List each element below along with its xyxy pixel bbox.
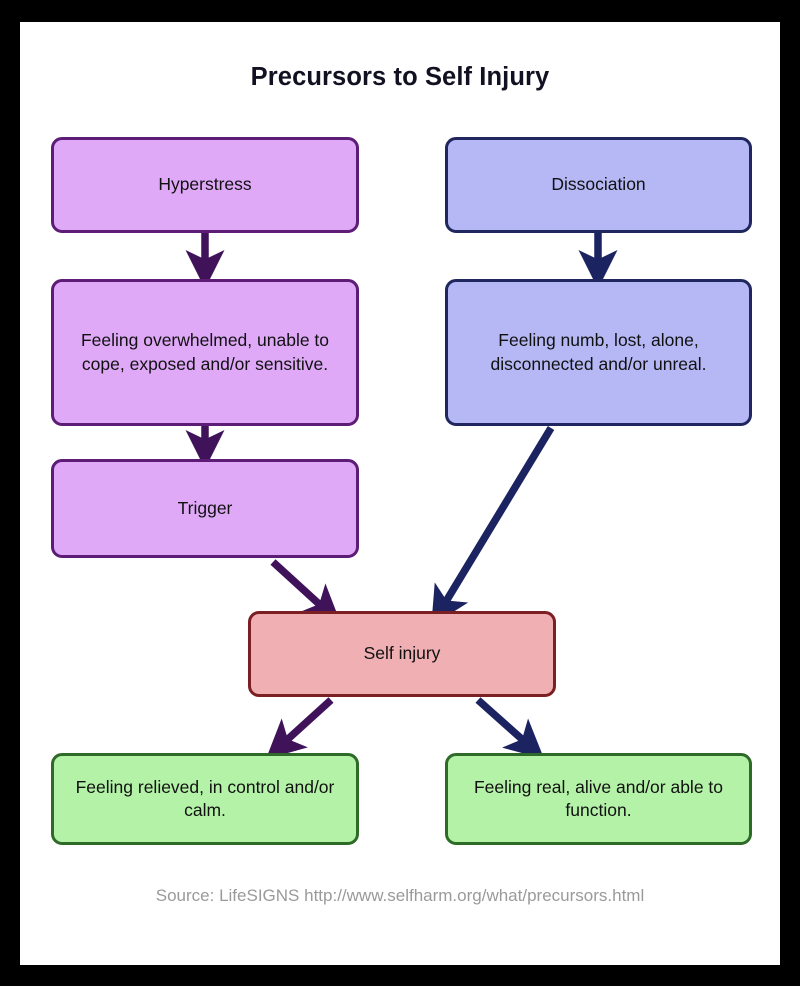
edge-numb-to-self-injury bbox=[439, 428, 551, 613]
node-feeling-relieved[interactable]: Feeling relieved, in control and/or calm… bbox=[51, 753, 359, 845]
node-self-injury[interactable]: Self injury bbox=[248, 611, 556, 697]
node-feeling-overwhelmed-label: Feeling overwhelmed, unable to cope, exp… bbox=[64, 329, 346, 375]
node-feeling-numb-label: Feeling numb, lost, alone, disconnected … bbox=[458, 329, 739, 375]
node-trigger-label: Trigger bbox=[64, 497, 346, 520]
edge-trigger-to-self-injury bbox=[273, 562, 330, 614]
node-dissociation[interactable]: Dissociation bbox=[445, 137, 752, 233]
edge-self-injury-to-real-alive bbox=[478, 700, 533, 749]
node-self-injury-label: Self injury bbox=[261, 642, 543, 665]
edge-self-injury-to-relieved bbox=[277, 700, 331, 749]
node-feeling-numb[interactable]: Feeling numb, lost, alone, disconnected … bbox=[445, 279, 752, 426]
source-note: Source: LifeSIGNS http://www.selfharm.or… bbox=[20, 886, 780, 906]
node-feeling-real-alive[interactable]: Feeling real, alive and/or able to funct… bbox=[445, 753, 752, 845]
node-feeling-relieved-label: Feeling relieved, in control and/or calm… bbox=[64, 776, 346, 822]
node-hyperstress-label: Hyperstress bbox=[64, 173, 346, 196]
node-hyperstress[interactable]: Hyperstress bbox=[51, 137, 359, 233]
page-title: Precursors to Self Injury bbox=[20, 63, 780, 92]
node-dissociation-label: Dissociation bbox=[458, 173, 739, 196]
node-feeling-real-alive-label: Feeling real, alive and/or able to funct… bbox=[458, 776, 739, 822]
node-trigger[interactable]: Trigger bbox=[51, 459, 359, 558]
page-border-frame: Precursors to Self Injury bbox=[0, 0, 800, 986]
node-feeling-overwhelmed[interactable]: Feeling overwhelmed, unable to cope, exp… bbox=[51, 279, 359, 426]
diagram-canvas: Precursors to Self Injury bbox=[20, 22, 780, 965]
